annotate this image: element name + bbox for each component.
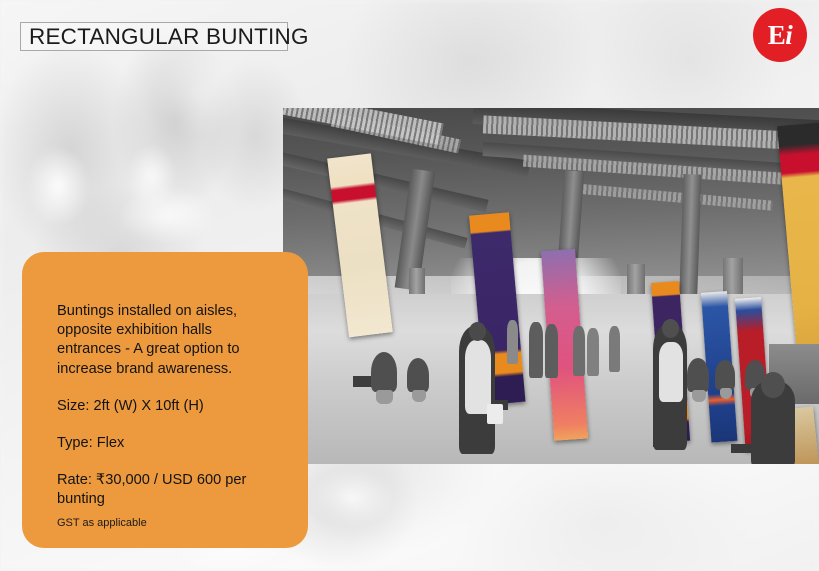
info-card: Buntings installed on aisles, opposite e…	[22, 252, 308, 548]
card-size: Size: 2ft (W) X 10ft (H)	[57, 397, 278, 416]
card-gst-note: GST as applicable	[57, 516, 278, 530]
page-title: RECTANGULAR BUNTING	[21, 24, 309, 50]
visitor-figure	[465, 340, 491, 414]
logo-letter-e: E	[768, 20, 786, 50]
card-rate: Rate: ₹30,000 / USD 600 per bunting	[57, 471, 278, 509]
ei-logo: Ei	[753, 8, 807, 62]
potted-plant	[371, 352, 397, 392]
card-type: Type: Flex	[57, 434, 278, 453]
visitor-figure	[659, 342, 683, 402]
plant-pot	[692, 390, 706, 402]
card-description: Buntings installed on aisles, opposite e…	[57, 302, 278, 379]
visitor-figure	[573, 326, 585, 376]
visitor-head	[761, 372, 785, 398]
plant-pot	[376, 390, 393, 404]
plant-pot	[412, 390, 426, 402]
visitor-figure	[609, 326, 620, 372]
logo-letter-i: i	[785, 20, 792, 50]
exhibition-aisle-photo	[283, 108, 819, 464]
visitor-figure	[545, 324, 558, 378]
visitor-head	[469, 322, 486, 341]
page-title-box: RECTANGULAR BUNTING	[20, 22, 288, 51]
slide-canvas: RECTANGULAR BUNTING Ei	[0, 0, 819, 571]
visitor-figure	[587, 328, 599, 376]
logo-text: Ei	[768, 22, 793, 49]
potted-plant	[715, 360, 735, 390]
potted-plant	[687, 358, 709, 392]
visitor-bag	[487, 404, 503, 424]
potted-plant	[407, 358, 429, 392]
visitor-head	[662, 319, 679, 338]
visitor-figure	[507, 320, 518, 364]
visitor-figure	[529, 322, 543, 378]
